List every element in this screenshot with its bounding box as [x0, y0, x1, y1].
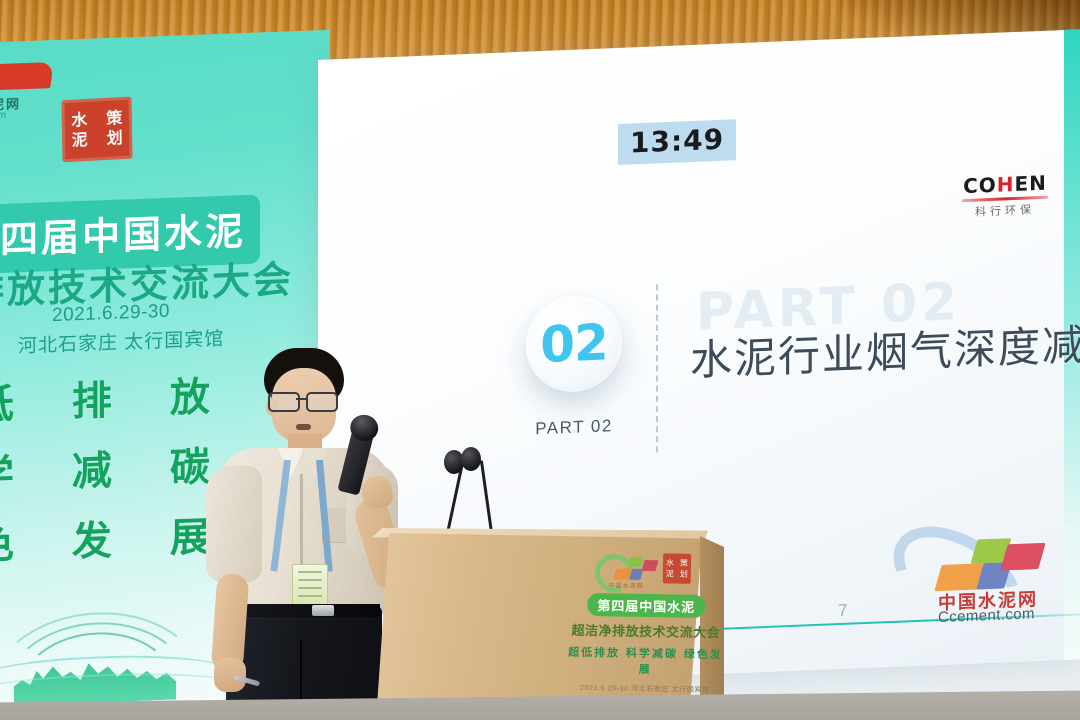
podium-seal-char-4: 划	[677, 569, 691, 580]
podium-sign-emblem: 中国水泥网 水 策 泥 划	[567, 550, 728, 593]
backdrop-venue: 河北石家庄 太行国宾馆	[18, 324, 224, 359]
cohen-h: H	[997, 172, 1015, 197]
podium-sign-line2: 超洁净排放技术交流大会	[566, 620, 726, 642]
backdrop-logo-en: ent.com	[0, 110, 6, 122]
cohen-chinese-name: 科行环保	[958, 201, 1052, 221]
slide-divider	[656, 284, 658, 452]
watermark-en: Ccement.com	[938, 605, 1035, 626]
seal-char-4: 划	[97, 128, 132, 150]
speaker-glasses-icon	[268, 392, 340, 408]
seal-char-2: 策	[97, 108, 132, 130]
podium-seal-char-3: 泥	[663, 568, 677, 579]
podium-microphone-right-head	[461, 447, 481, 471]
seal-char-1: 水	[62, 109, 97, 131]
emblem-caption: 中国水泥网	[609, 580, 644, 590]
podium-seal-char-2: 策	[677, 558, 691, 569]
speaker-mouth	[296, 424, 311, 430]
cohen-co: CO	[963, 173, 997, 198]
emblem-tile-red	[642, 560, 659, 571]
clock-badge: 13:49	[618, 119, 736, 165]
logo-swoosh-icon	[0, 62, 54, 91]
speaker-hand-left	[214, 658, 246, 692]
backdrop-date: 2021.6.29-30	[52, 301, 170, 327]
part-label: PART 02	[524, 416, 624, 440]
speaker-sleeve-left	[206, 466, 262, 582]
podium-sign-line3: 超低排放 科学减碳 绿色发展	[565, 644, 726, 679]
slide-page-number: 7	[838, 601, 847, 621]
conference-photo-scene: 水泥网 ent.com 水 策 泥 划 四届中国水泥 排放技术交流大会 2021…	[0, 0, 1080, 720]
podium-sign: 中国水泥网 水 策 泥 划 第四届中国水泥 超洁净排放技术交流大会 超低排放 科…	[565, 550, 727, 696]
speaker-belt	[228, 604, 380, 617]
podium-sign-pill: 第四届中国水泥	[587, 593, 705, 618]
podium-seal-char-1: 水	[663, 557, 677, 568]
part-number: 02	[540, 313, 608, 374]
slide-watermark-ccement: 中国水泥网 Ccement.com	[886, 526, 1062, 619]
sponsor-logo-cohen: COHEN 科行环保	[958, 171, 1052, 221]
part-number-badge: 02	[526, 294, 622, 394]
speaker-belt-buckle	[312, 605, 334, 616]
cohen-wordmark: COHEN	[963, 171, 1047, 198]
seal-char-3: 泥	[62, 129, 97, 151]
cohen-en: EN	[1015, 171, 1047, 196]
emblem-tile-green	[628, 557, 644, 567]
podium-seal-stamp-icon: 水 策 泥 划	[663, 553, 692, 583]
watermark-tile-red	[1000, 543, 1045, 571]
backdrop-seal-stamp-icon: 水 策 泥 划	[61, 97, 132, 163]
